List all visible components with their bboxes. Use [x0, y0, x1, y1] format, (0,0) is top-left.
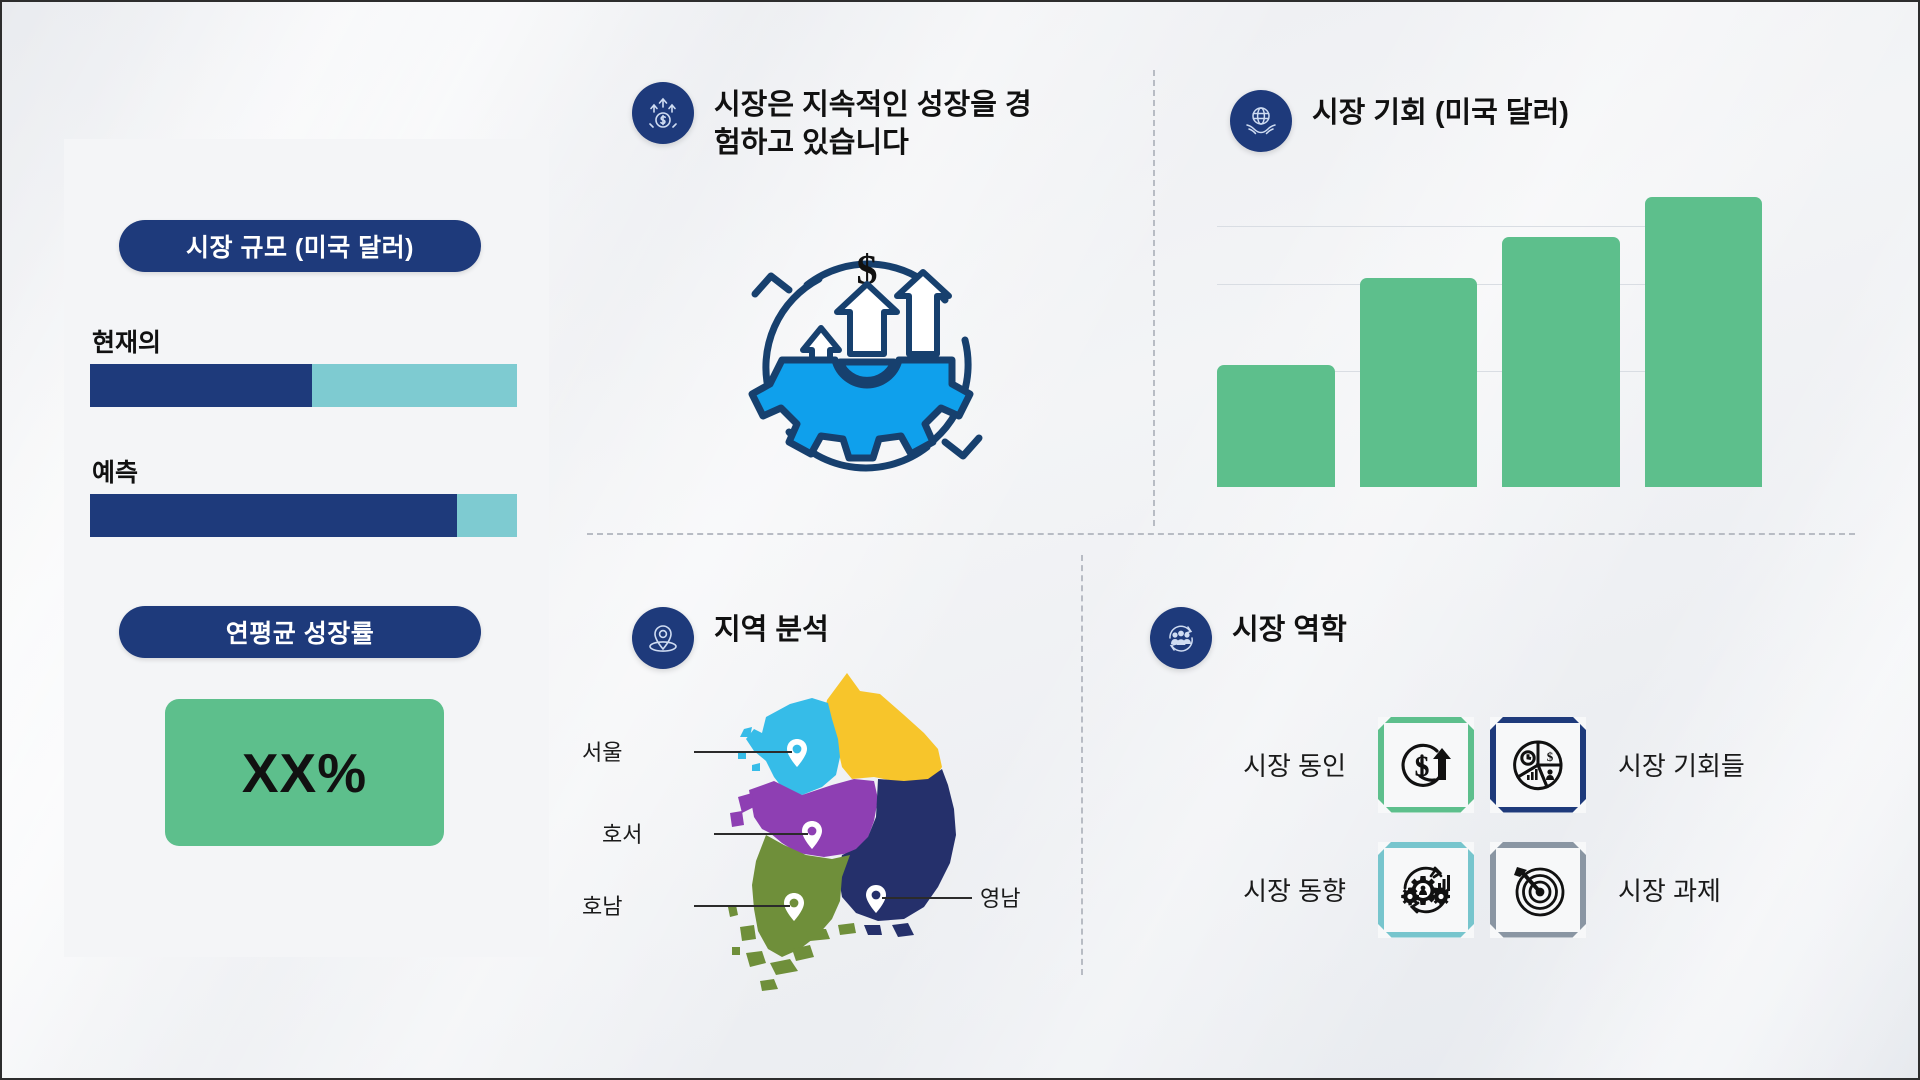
map-label-yeongnam: 영남	[980, 881, 1020, 913]
divider-horizontal	[587, 533, 1855, 535]
dynamics-label-market-trends: 시장 동향	[1150, 871, 1370, 908]
forecast-bar-fill	[90, 494, 457, 537]
svg-text:$: $	[1415, 750, 1430, 783]
opportunity-section-title: 시장 기회 (미국 달러)	[1312, 90, 1569, 132]
current-bar-label: 현재의	[92, 323, 161, 359]
growth-section-header: 시장은 지속적인 성장을 경험하고 있습니다	[632, 82, 1052, 163]
chart-bar	[1645, 197, 1763, 487]
opportunity-section-header: 시장 기회 (미국 달러)	[1230, 90, 1569, 152]
south-korea-region-map: 서울 호서 호남 영남	[642, 657, 1062, 1002]
dynamics-label-market-drivers: 시장 동인	[1150, 746, 1370, 783]
dynamics-section-title: 시장 역학	[1232, 607, 1347, 649]
growth-section-title: 시장은 지속적인 성장을 경험하고 있습니다	[714, 82, 1052, 163]
market-dynamics-grid: 시장 동인 $ $	[1150, 702, 1822, 952]
forecast-bar-label: 예측	[92, 453, 138, 489]
dynamics-label-market-opportunities: 시장 기회들	[1594, 746, 1814, 783]
market-size-title-pill: 시장 규모 (미국 달러)	[119, 220, 481, 272]
market-size-panel: 시장 규모 (미국 달러) 현재의 예측 연평균 성장률 XX%	[64, 139, 549, 957]
chart-bar	[1502, 237, 1620, 487]
map-label-hoseo: 호서	[602, 817, 642, 849]
current-market-size-bar	[90, 364, 517, 407]
cagr-title-pill: 연평균 성장률	[119, 606, 481, 658]
dynamics-section-header: 시장 역학	[1150, 607, 1347, 669]
divider-vertical-bottom	[1081, 555, 1083, 975]
current-bar-fill	[90, 364, 312, 407]
regional-section-title: 지역 분석	[714, 607, 829, 649]
map-label-honam: 호남	[582, 889, 622, 921]
dollar-up-arrow-icon[interactable]: $	[1378, 717, 1474, 813]
map-label-seoul: 서울	[582, 735, 622, 767]
map-region-unlabeled	[824, 673, 942, 781]
chart-bar	[1217, 365, 1335, 487]
target-dart-icon[interactable]	[1490, 842, 1586, 938]
divider-vertical-top	[1153, 70, 1155, 526]
dynamics-label-market-challenges: 시장 과제	[1594, 871, 1814, 908]
forecast-market-size-bar	[90, 494, 517, 537]
chart-bars	[1217, 182, 1762, 487]
svg-text:$: $	[1547, 749, 1554, 764]
people-cycle-icon	[1150, 607, 1212, 669]
market-opportunity-bar-chart	[1217, 182, 1762, 487]
pie-chart-icon[interactable]: $	[1490, 717, 1586, 813]
cagr-value-box: XX%	[165, 699, 444, 846]
chart-bar	[1360, 278, 1478, 487]
money-growth-circle-icon	[632, 82, 694, 144]
gears-growth-icon[interactable]	[1378, 842, 1474, 938]
gear-with-upward-arrows-dollar-icon: $	[727, 232, 1007, 505]
cagr-value: XX%	[242, 741, 367, 805]
globe-in-hands-icon	[1230, 90, 1292, 152]
